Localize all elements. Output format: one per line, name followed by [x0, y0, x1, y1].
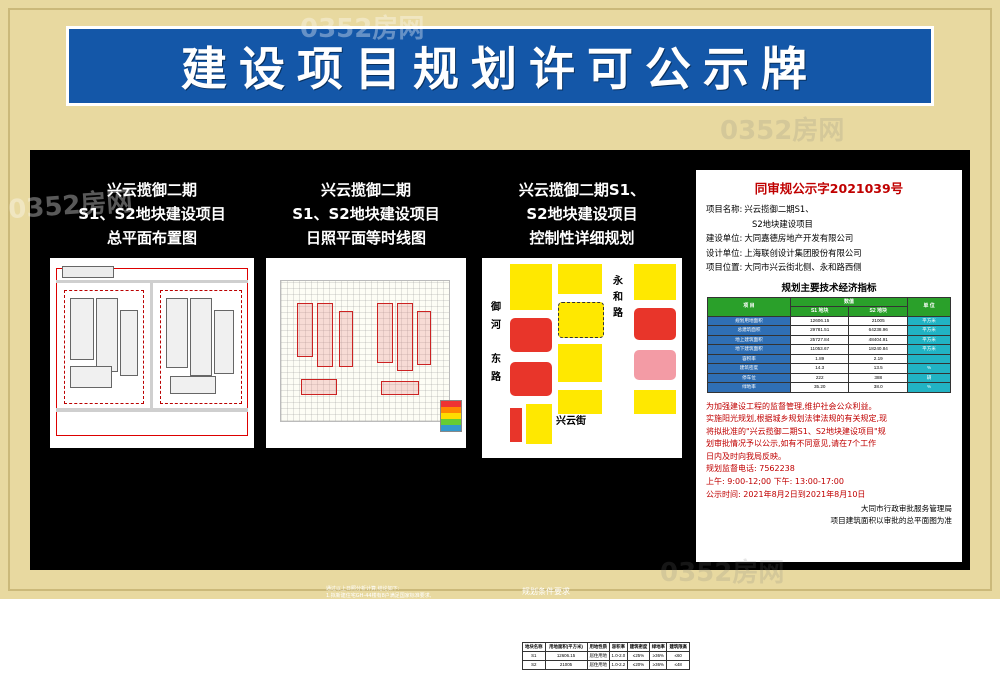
title-line: 日照平面等时线图: [266, 226, 466, 250]
zoning-label-lu: 路: [488, 372, 504, 384]
notice-line: 日内及时向我局反映。: [706, 451, 952, 464]
zoning-block-red: [510, 362, 552, 396]
building-block: [170, 376, 216, 394]
cell: ≥36%: [650, 661, 667, 670]
cell: 总建筑面积: [708, 326, 791, 336]
col-header: 用地性质: [587, 643, 610, 652]
public-notice-text: 为加强建设工程的监督管理,维护社会公众利益。 实施阳光规划,根据城乡规划法律法规…: [696, 393, 962, 502]
cell: 14.3: [790, 364, 849, 374]
col-header-unit: 单 位: [908, 297, 951, 316]
notes-line: 范日照标准要求。: [326, 622, 511, 629]
zoning-label-yonghe-1: 永: [610, 276, 626, 288]
info-row: 项目名称: 兴云揽御二期S1、: [706, 203, 952, 217]
col-header-s1: S1 地块: [790, 307, 849, 317]
notes-line: 2.拟建幼儿园GH-幼儿园满足国家相关规范日照标准要求。: [326, 608, 511, 615]
drawing-title-zoning: 兴云揽御二期S1、 S2地块建设项目 控制性详细规划: [482, 178, 682, 250]
info-panel: 同审规公示字2021039号 项目名称: 兴云揽御二期S1、 S2地块建设项目 …: [696, 170, 962, 562]
cell: 388: [849, 373, 908, 383]
cell: 29781.51: [790, 326, 849, 336]
cell: 建筑密度: [708, 364, 791, 374]
zoning-block-yellow: [558, 390, 602, 414]
sunlight-grid: [280, 280, 450, 422]
info-value: S2地块建设项目: [752, 218, 813, 232]
site-plan-drawing: [50, 258, 254, 448]
tech-indicators-table: 项 目 数值 单 位 S1 地块 S2 地块 规划用地面积 12606.15 2…: [707, 297, 951, 393]
col-header-s2: S2 地块: [849, 307, 908, 317]
zoning-block-red: [634, 308, 676, 340]
zoning-block-red: [510, 318, 552, 352]
cell: ≤48: [667, 661, 690, 670]
table-row: S1 12606.15 居住用地 1.0-2.0 ≤25% ≥36% ≤60: [523, 652, 690, 661]
notes-line: 范日照标准要求。: [326, 687, 511, 694]
notes-line: 照标准要求的范围研究,项目建设的日照满足国家相关日照标: [326, 636, 511, 643]
cell: 容积率: [708, 354, 791, 364]
cell: 2.19: [849, 354, 908, 364]
zoning-block-yellow: [558, 344, 602, 382]
cell: 21005: [545, 661, 587, 670]
zoning-label-dong: 东: [488, 354, 504, 366]
tech-table-title: 规划主要技术经济指标: [696, 280, 962, 294]
plan-road-mid: [150, 283, 153, 411]
title-line: 兴云揽御二期: [266, 178, 466, 202]
cell: 11053.67: [790, 345, 849, 355]
sun-building: [397, 303, 413, 371]
issuer-footer: 大同市行政审批服务管理局 项目建筑面积以审批的总平面图为准: [696, 501, 962, 526]
cell: 48404.91: [849, 335, 908, 345]
col-header: 绿地率: [650, 643, 667, 652]
info-value: 大同市兴云街北侧、永和路西侧: [744, 261, 861, 275]
cell: 辆: [908, 373, 951, 383]
building-block: [120, 310, 138, 376]
sun-building: [381, 381, 419, 395]
info-row: 项目位置: 大同市兴云街北侧、永和路西侧: [706, 261, 952, 275]
cell: [908, 354, 951, 364]
zoning-drawing: 御 河 东 路 永 和 路 兴云街: [482, 258, 682, 458]
building-block: [70, 366, 112, 388]
info-row: 设计单位: 上海联创设计集团股份有限公司: [706, 247, 952, 261]
table-header-row: 项 目 数值 单 位: [708, 297, 951, 307]
cell: 地上建筑面积: [708, 335, 791, 345]
planning-conditions-table: 地块名称 用地面积(平方米) 用地性质 容积率 建筑密度 绿地率 建筑限高 S1…: [522, 642, 690, 670]
notes-line: 满足日照标准及规范要求,该项目建设时对周边的日照影响均符: [326, 651, 511, 658]
cell: 64238.96: [849, 326, 908, 336]
cell: ≤20%: [627, 661, 650, 670]
sunlight-legend: [440, 400, 462, 432]
sunlight-analysis-drawing: [266, 258, 466, 448]
page-title: 建设项目规划许可公示牌: [181, 33, 819, 99]
info-key: 建设单位:: [706, 232, 742, 246]
cell: 居住用地: [587, 652, 610, 661]
zoning-block-yellow: [634, 390, 676, 414]
cell: 居住用地: [587, 661, 610, 670]
info-key: 设计单位:: [706, 247, 742, 261]
cell: 停车位: [708, 373, 791, 383]
content-panel-inner: 兴云揽御二期 S1、S2地块建设项目 总平面布置图 兴云揽御二期 S1、S2地块…: [36, 156, 964, 564]
cell: S1: [523, 652, 546, 661]
cell: ≥36%: [650, 652, 667, 661]
planning-conditions-title: 规划条件要求: [522, 586, 692, 598]
building-block: [190, 298, 212, 376]
zoning-block-pink: [634, 350, 676, 380]
zoning-label-yuhe-2: 河: [488, 320, 504, 332]
col-header: 建筑密度: [627, 643, 650, 652]
notes-line: 5.该项目建设后,在建住宅楼ZJ-1#楼、ZJ-2#楼满足国家相关规: [326, 680, 511, 687]
sun-building: [377, 303, 393, 363]
notes-line: 准要求,该项目建设对周边现状建筑及规划建筑的日照影响均: [326, 644, 511, 651]
notice-phone: 规划监督电话: 7562238: [706, 463, 952, 476]
info-key: 项目名称:: [706, 203, 742, 217]
notice-line: 为加强建设工程的监督管理,维护社会公众利益。: [706, 401, 952, 414]
notice-period: 公示时间: 2021年8月2日到2021年8月10日: [706, 489, 952, 502]
cell: 平方米: [908, 345, 951, 355]
col-header: 用地面积(平方米): [545, 643, 587, 652]
sun-building: [317, 303, 333, 367]
zoning-label-yonghe-3: 路: [610, 308, 626, 320]
issuer-note: 项目建筑面积以审批的总平面图为准: [706, 515, 952, 527]
notes-line: 准要求。: [326, 672, 511, 679]
north-annotation-block: [62, 266, 114, 278]
table-row: 总建筑面积 29781.51 64238.96 平方米: [708, 326, 951, 336]
sun-building: [301, 379, 337, 395]
drawing-title-sunlight: 兴云揽御二期 S1、S2地块建设项目 日照平面等时线图: [266, 178, 466, 250]
info-value: 大同嘉德房地产开发有限公司: [744, 232, 853, 246]
cell: 平方米: [908, 335, 951, 345]
cell: S2: [523, 661, 546, 670]
zoning-block-yellow: [510, 264, 552, 310]
document-number: 同审规公示字2021039号: [696, 178, 962, 197]
table-row: S2 21005 居住用地 1.0-2.2 ≤20% ≥36% ≤48: [523, 661, 690, 670]
cell: 1.0-2.0: [610, 652, 628, 661]
table-row: 建筑密度 14.3 13.5 %: [708, 364, 951, 374]
road-vertical: [606, 258, 612, 458]
title-line: 总平面布置图: [52, 226, 252, 250]
cell: 38.0: [849, 383, 908, 393]
sun-building: [417, 311, 431, 365]
cell: 1.0-2.2: [610, 661, 628, 670]
cell: %: [908, 364, 951, 374]
cell: ≤25%: [627, 652, 650, 661]
cell: 平方米: [908, 326, 951, 336]
cell: 25727.84: [790, 335, 849, 345]
cell: 平方米: [908, 316, 951, 326]
cell: ≤60: [667, 652, 690, 661]
cell: 12606.15: [790, 316, 849, 326]
col-header: 地块名称: [523, 643, 546, 652]
info-key: 项目位置:: [706, 261, 742, 275]
notes-line: 其余拟新建住宅楼均满足国家标准日照标准要求。: [326, 600, 511, 607]
cell: 21005: [849, 316, 908, 326]
building-block: [70, 298, 94, 360]
cell: 222: [790, 373, 849, 383]
public-notice-board: 建设项目规划许可公示牌 兴云揽御二期 S1、S2地块建设项目 总平面布置图 兴云…: [0, 0, 1000, 599]
notes-line: 该项目建设的拟建住宅楼XZ-1#楼、XZ-2#楼对周边现状及规划日: [326, 629, 511, 636]
info-row: 建设单位: 大同嘉德房地产开发有限公司: [706, 232, 952, 246]
cell: 18240.84: [849, 345, 908, 355]
notice-hours: 上午: 9:00-12;00 下午: 13:00-17:00: [706, 476, 952, 489]
cell: 12606.15: [545, 652, 587, 661]
building-block: [214, 310, 234, 374]
title-line: S1、S2地块建设项目: [266, 202, 466, 226]
table-row: 容积率 1.89 2.19: [708, 354, 951, 364]
building-block: [166, 298, 188, 368]
col-header-item: 项 目: [708, 297, 791, 316]
title-line: 控制性详细规划: [482, 226, 682, 250]
title-line: 兴云揽御二期: [52, 178, 252, 202]
zoning-block-red: [510, 408, 522, 442]
notice-line: 划审批情况予以公示,如有不同意见,请在7个工作: [706, 438, 952, 451]
col-header: 建筑限高: [667, 643, 690, 652]
project-info-list: 项目名称: 兴云揽御二期S1、 S2地块建设项目 建设单位: 大同嘉德房地产开发…: [696, 203, 962, 275]
sunlight-notes: 通过以上日照分析计算,结论如下: 1.拟新建住宅GH-44楼有8户满足国家标准要…: [326, 586, 511, 694]
cell: 绿地率: [708, 383, 791, 393]
table-row: 地下建筑面积 11053.67 18240.84 平方米: [708, 345, 951, 355]
zoning-block-dashed: [558, 302, 604, 338]
issuer-name: 大同市行政审批服务管理局: [706, 503, 952, 515]
cell: 13.5: [849, 364, 908, 374]
title-line: 兴云揽御二期S1、: [482, 178, 682, 202]
notes-line: 1.拟新建住宅GH-44楼有8户满足国家标准要求,: [326, 593, 511, 600]
drawing-title-site-plan: 兴云揽御二期 S1、S2地块建设项目 总平面布置图: [52, 178, 252, 250]
zoning-block-yellow: [634, 264, 676, 300]
table-row: 停车位 222 388 辆: [708, 373, 951, 383]
cell: 规划用地面积: [708, 316, 791, 326]
table-row: 绿地率 35.20 38.0 %: [708, 383, 951, 393]
zoning-label-yonghe-2: 和: [610, 292, 626, 304]
sun-building: [339, 311, 353, 367]
planning-conditions-title-wrap: 规划条件要求: [522, 586, 692, 598]
notice-line: 实施阳光规划,根据城乡规划法律法规的有关规定,现: [706, 413, 952, 426]
zoning-label-yuhe-1: 御: [488, 302, 504, 314]
notice-line: 将拟批准的"兴云揽御二期S1、S2地块建设项目"规: [706, 426, 952, 439]
table-header-row: 地块名称 用地面积(平方米) 用地性质 容积率 建筑密度 绿地率 建筑限高: [523, 643, 690, 652]
table-row: 规划用地面积 12606.15 21005 平方米: [708, 316, 951, 326]
cell: 1.89: [790, 354, 849, 364]
sun-building: [297, 303, 313, 357]
cell: %: [908, 383, 951, 393]
cell: 地下建筑面积: [708, 345, 791, 355]
cell: 35.20: [790, 383, 849, 393]
notes-line: 3.该项目建设的,拟建住宅XZ-1#楼、XZ-2#楼满足国家相关规: [326, 615, 511, 622]
col-header-group: 数值: [790, 297, 907, 307]
info-value: 兴云揽御二期S1、: [744, 203, 813, 217]
col-header: 容积率: [610, 643, 628, 652]
header-banner: 建设项目规划许可公示牌: [66, 26, 934, 106]
notes-line: 合规范要求。: [326, 658, 511, 665]
zoning-block-yellow: [558, 264, 602, 294]
building-block: [96, 298, 118, 372]
info-row: S2地块建设项目: [706, 218, 952, 232]
title-line: S1、S2地块建设项目: [52, 202, 252, 226]
zoning-label-xingyunjie: 兴云街: [544, 416, 598, 428]
title-line: S2地块建设项目: [482, 202, 682, 226]
notes-line: 4.该项目建设后,现状幼儿园XZ-幼儿园满足国家相关规范日照标: [326, 665, 511, 672]
info-value: 上海联创设计集团股份有限公司: [744, 247, 861, 261]
table-row: 地上建筑面积 25727.84 48404.91 平方米: [708, 335, 951, 345]
content-panel: 兴云揽御二期 S1、S2地块建设项目 总平面布置图 兴云揽御二期 S1、S2地块…: [30, 150, 970, 570]
